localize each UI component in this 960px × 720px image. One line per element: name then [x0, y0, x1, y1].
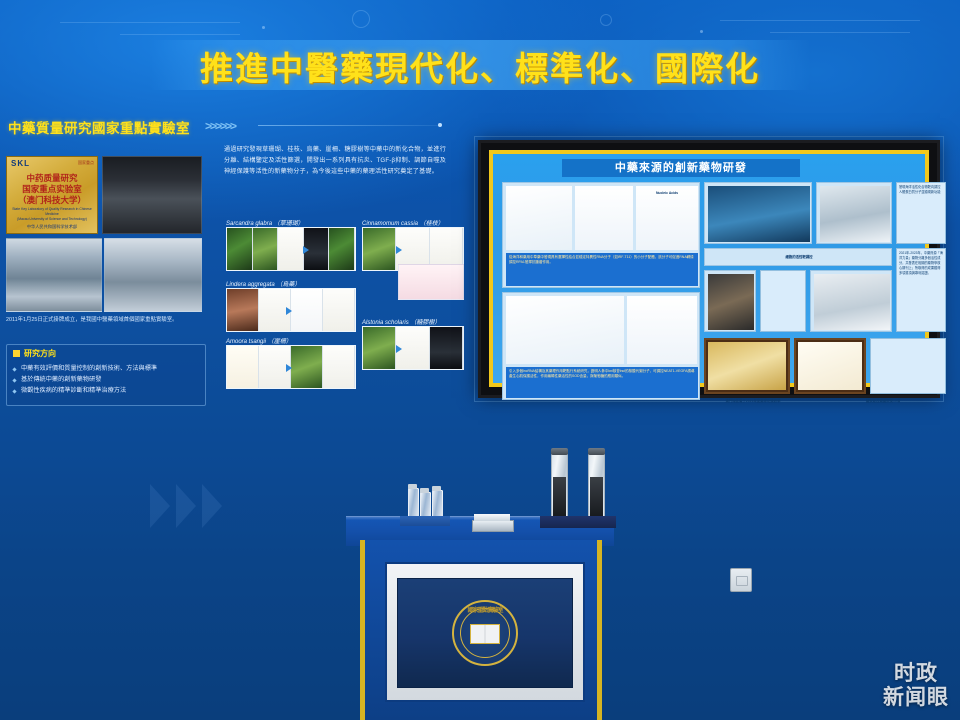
- side-note-1: 發現海洋活性化合物靶向調控人體蛋白質分子並顯現新功能: [896, 182, 946, 244]
- photo-herb-samples: [814, 274, 890, 330]
- species-image-strip: [362, 326, 464, 370]
- podium-plate: 國家重點實驗室: [397, 578, 573, 688]
- plaque-chinese-name: 中药质量研究 国家重点实验室 （澳门科技大学）: [7, 173, 97, 206]
- display-tube-1: [551, 452, 566, 518]
- specimen-box: [472, 520, 514, 532]
- specimen-note: [760, 270, 806, 332]
- species-label: Alstonia scholaris （糖膠樹）: [362, 317, 440, 326]
- board-body-text: 通過研究發現草珊瑚、桂枝、烏藥、崖柵、糖膠樹等中藥中的新化合物，並進行分離、結構…: [224, 144, 446, 177]
- decor-dot: [700, 30, 703, 33]
- display-tube-2: [588, 452, 603, 518]
- diagram-bar-charts: [627, 296, 697, 364]
- plaque-corner-mark: 国家重点: [78, 160, 94, 166]
- tube-contents: [553, 477, 566, 518]
- diagram-molecule: [575, 186, 633, 250]
- decor-line: [120, 34, 240, 35]
- flag-icon: [13, 350, 20, 357]
- caption-strip-equipment: 細胞的活性靶調控: [704, 248, 892, 266]
- screenshot-root: 推進中醫藥現代化、標準化、國際化 中藥質量研究國家重點實驗室 >>>>>> SK…: [0, 0, 960, 720]
- photo-lab-display: [708, 186, 810, 242]
- board-divider: [258, 125, 438, 126]
- photo-panel-lab-screen: [704, 182, 812, 244]
- plaque-line2: 国家重点实验室: [7, 184, 97, 195]
- page-title: 推進中醫藥現代化、標準化、國際化: [150, 42, 810, 90]
- arrow-icon: [286, 364, 292, 372]
- award-certificate-2: [794, 338, 866, 394]
- board-caption: 2011年1月25日正式掛牌成立，是我國中醫藥領域首個國家重點實驗室。: [6, 316, 216, 324]
- arrow-icon: [150, 484, 170, 528]
- plaque-english1: State Key Laboratory of Quality Research…: [10, 207, 94, 217]
- tube-stand: [540, 516, 616, 528]
- specimen-box-lid: [474, 514, 510, 521]
- tube-body: [551, 452, 568, 520]
- award-label-2: 國家級各類國際獎10項: [828, 398, 938, 403]
- tube-body: [588, 452, 605, 520]
- species-photo: [227, 228, 253, 270]
- award-label-1: 澳門特區電子2021年度高等功獎教學: [698, 398, 808, 403]
- sample-vial: [432, 490, 441, 516]
- board-divider-dot: [438, 123, 442, 127]
- list-item: 中藥有效評價和質量控制的創新技術、方法與標準: [21, 363, 199, 374]
- photo-sample-jars: [820, 186, 890, 242]
- vial-body: [420, 492, 431, 518]
- certificate-plate: [708, 342, 786, 390]
- diagram-cell-signalling: [506, 296, 624, 364]
- species-label: Lindera aggregata （烏藥）: [226, 279, 300, 288]
- award-note: [870, 338, 946, 394]
- vial-cap: [408, 484, 417, 489]
- tube-cap: [551, 448, 568, 455]
- photo-group-ceremony: [102, 156, 202, 234]
- research-directions-heading: 研究方向: [24, 348, 56, 359]
- decor-circle: [600, 14, 612, 26]
- specimen-sheet-image: [227, 346, 259, 388]
- side-note-2: 2021年-2023年，中藥資源「海洋力量」藥物分離多個活性成分，共發表在相關的…: [896, 248, 946, 332]
- chemical-structure-image: [278, 228, 304, 270]
- species-label: Amoora tsangii （崖柵）: [226, 336, 292, 345]
- arrow-icon: [286, 307, 292, 315]
- tube-cap: [588, 448, 605, 455]
- sample-vial: [420, 492, 429, 516]
- species-photo: [291, 346, 323, 388]
- plaque-line3: （澳门科技大学）: [7, 195, 97, 206]
- diagram-cell-pathway: [506, 186, 572, 250]
- decor-dot: [262, 26, 265, 29]
- photo-equipment: [6, 238, 8, 240]
- species-photo: [363, 228, 396, 270]
- exhibit-board: 中藥質量研究國家重點實驗室 >>>>>> SKL 国家重点 中药质量研究 国家重…: [0, 112, 470, 412]
- emblem-top-text: 國家重點實驗室: [454, 605, 516, 614]
- vial-cap: [432, 486, 441, 491]
- vial-cap: [420, 488, 429, 493]
- decor-line: [770, 32, 910, 33]
- watermark-line2: 新闻眼: [880, 686, 952, 710]
- bar-chart-image: [398, 264, 464, 300]
- figure-caption-1: 從海洋和藥用中草藥中發現具有選擇性結合並穩定特異性RNA分子（如iRF-T11）…: [506, 253, 698, 286]
- tube-contents: [590, 477, 603, 518]
- decor-line: [720, 20, 920, 21]
- watermark-line1: 时政: [880, 662, 952, 686]
- species-label: Sarcandra glabra （草珊瑚）: [226, 218, 304, 227]
- photo-panel-herb-samples: [810, 270, 892, 332]
- display-podium: 國家重點實驗室: [360, 540, 602, 720]
- equipment-label: 細胞的活性靶調控: [705, 254, 892, 259]
- figure-caption-2: 引入多個lncRNA結構及其藥理作用靶點行系統研究，證明人參中knl核苷lncl…: [506, 367, 698, 398]
- screen-title: 中藥來源的創新藥物研發: [562, 159, 800, 177]
- list-item: 微觀性疾病的精準診斷和精準治療方法: [21, 385, 199, 396]
- list-item: 基於傳統中藥的創新藥物研發: [21, 374, 199, 385]
- arrow-icon: [176, 484, 196, 528]
- book-icon: [470, 624, 500, 644]
- species-photo: [227, 289, 259, 331]
- figure-panel-lncrna: 引入多個lncRNA結構及其藥理作用靶點行系統研究，證明人參中knl核苷lncl…: [502, 292, 700, 400]
- sample-vial: [408, 488, 417, 516]
- photo-specimens: [708, 274, 754, 330]
- plaque-english2: (Macau University of Science and Technol…: [10, 217, 94, 222]
- plaque-english: State Key Laboratory of Quality Research…: [10, 207, 94, 222]
- photo-panel-specimens: [704, 270, 756, 332]
- panel-label-nucleic-acids: Nucleic Acids: [638, 191, 696, 195]
- arrow-icon: [303, 246, 309, 254]
- board-title: 中藥質量研究國家重點實驗室: [8, 117, 190, 137]
- certificate-document: [798, 342, 862, 390]
- species-label: Cinnamomum cassia （桂枝）: [362, 218, 444, 227]
- diagram-nucleic-acids: [636, 186, 698, 250]
- chemical-structure-image: [323, 289, 355, 331]
- arrow-icon: [396, 246, 402, 254]
- arrow-icon: [202, 484, 222, 528]
- arrow-icon: [396, 345, 402, 353]
- wall-socket: [730, 568, 752, 592]
- chevron-arrows-icon: >>>>>>: [205, 119, 235, 133]
- laboratory-plaque: SKL 国家重点 中药质量研究 国家重点实验室 （澳门科技大学） State K…: [6, 156, 98, 234]
- vial-stand: [400, 516, 450, 526]
- photo-panel-jars: [816, 182, 892, 244]
- photo-laboratory-2: [104, 238, 202, 312]
- species-photo: [253, 228, 279, 270]
- photo-laboratory-1: [6, 238, 102, 312]
- species-image-strip: [226, 227, 356, 271]
- plaque-footer: 中华人民共和国科学技术部: [7, 224, 97, 230]
- research-directions-box: 研究方向 中藥有效評價和質量控制的創新技術、方法與標準 基於傳統中藥的創新藥物研…: [6, 344, 206, 406]
- vial-body: [408, 488, 419, 518]
- award-certificate-1: [704, 338, 790, 394]
- species-photo: [329, 228, 355, 270]
- data-chart-image: [291, 289, 323, 331]
- plaque-line1: 中药质量研究: [7, 173, 97, 184]
- decor-line: [60, 22, 240, 23]
- screen-body: Nucleic Acids 從海洋和藥用中草藥中發現具有選擇性結合並穩定特異性R…: [498, 180, 920, 378]
- skl-logo: SKL: [11, 159, 30, 168]
- vial-body: [432, 490, 443, 518]
- channel-watermark: 时政 新闻眼: [880, 662, 952, 710]
- laboratory-emblem: 國家重點實驗室: [452, 600, 518, 666]
- figure-panel-rna: Nucleic Acids 從海洋和藥用中草藥中發現具有選擇性結合並穩定特異性R…: [502, 182, 700, 288]
- decor-circle: [352, 10, 370, 28]
- gel-assay-image: [430, 327, 463, 369]
- species-photo: [363, 327, 396, 369]
- chemical-structure-image: [323, 346, 355, 388]
- screen-content: 中藥來源的創新藥物研發 Nucleic Acids 從海洋和藥用中草藥中發現具有…: [489, 150, 929, 387]
- presentation-screen[interactable]: 中藥來源的創新藥物研發 Nucleic Acids 從海洋和藥用中草藥中發現具有…: [478, 140, 940, 398]
